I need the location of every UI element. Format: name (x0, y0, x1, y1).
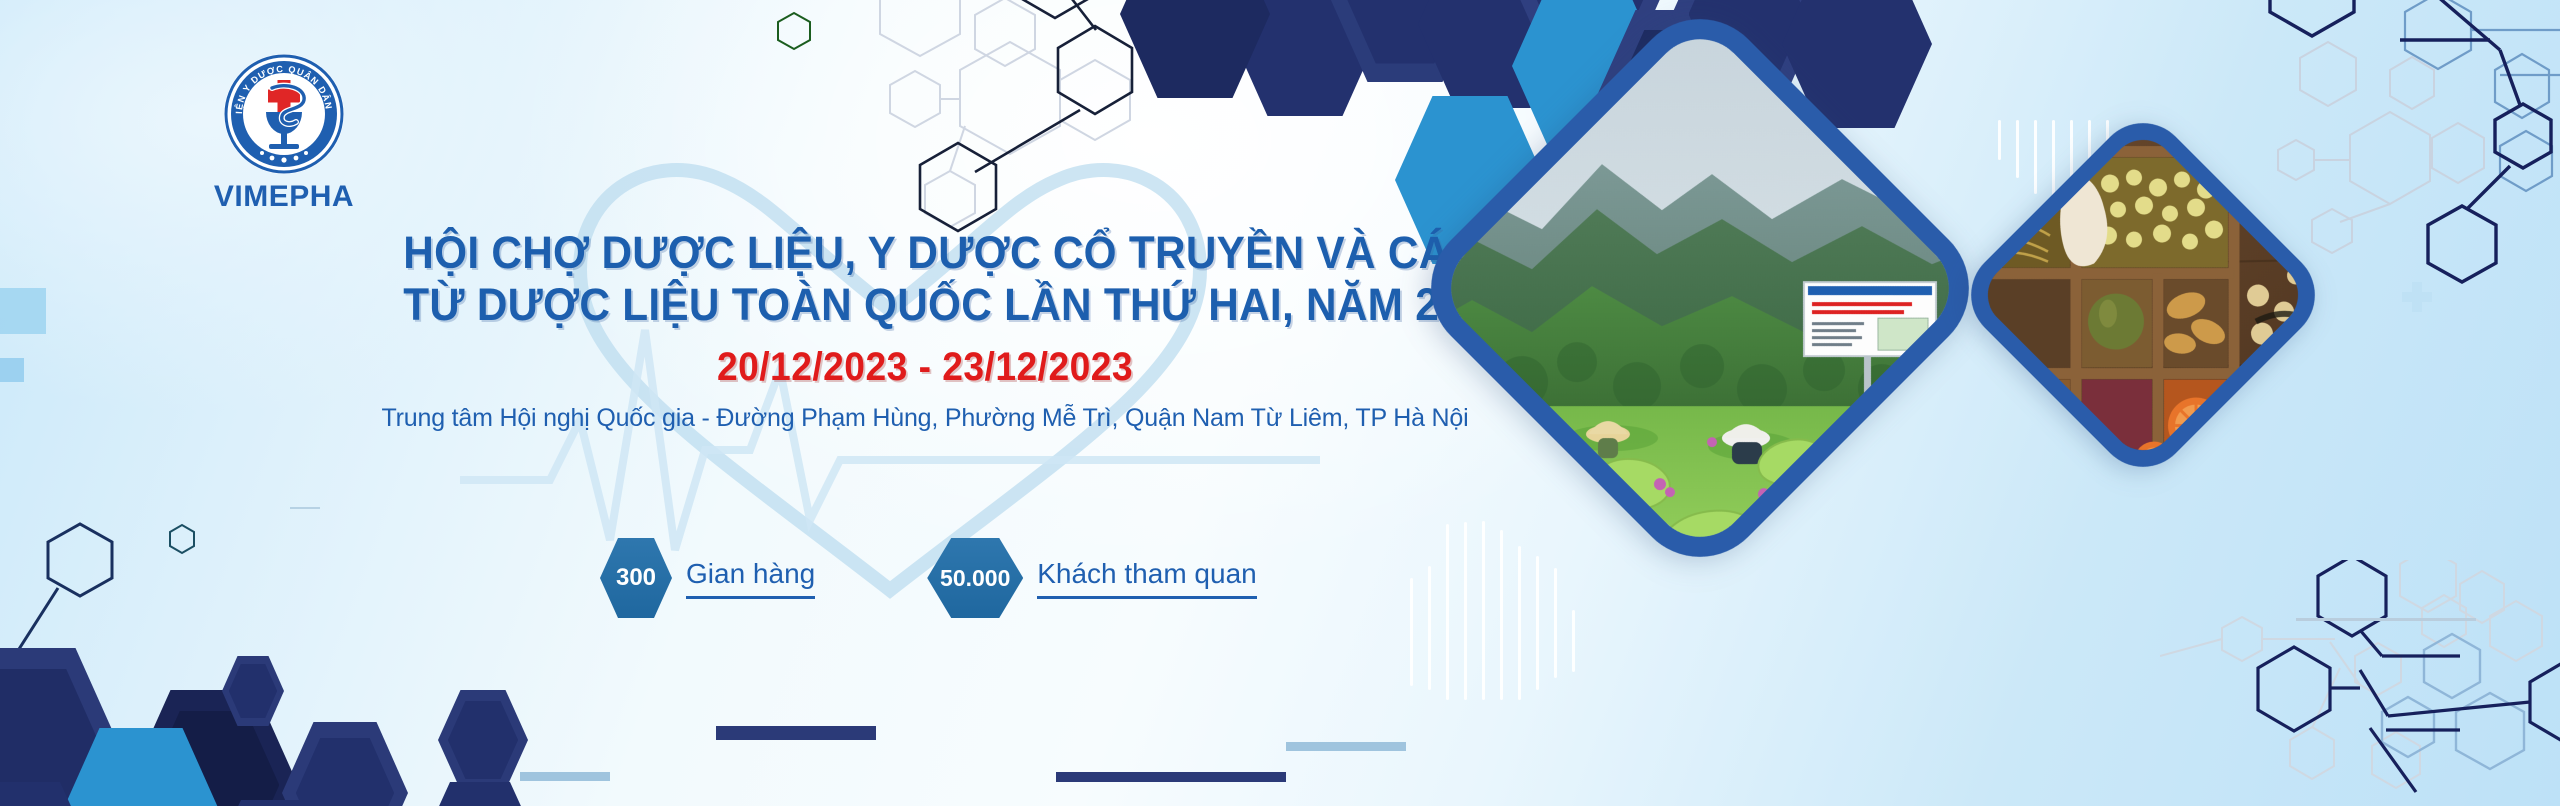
decor-cross-icon (2402, 292, 2432, 302)
institute-emblem-icon: VIỆN Y DƯỢC QUÂN DÂN Y VIỆT NAM (222, 52, 346, 176)
stat-label: Khách tham quan (1037, 557, 1257, 598)
stat-booths: 300 Gian hàng (600, 538, 815, 618)
event-title-line-1: HỘI CHỢ DƯỢC LIỆU, Y DƯỢC CỔ TRUYỀN VÀ C… (403, 228, 1446, 278)
stat-visitors: 50.000 Khách tham quan (927, 538, 1257, 618)
decor-bar (716, 726, 876, 740)
hairline-bundle-center (1398, 500, 1638, 700)
hex-network-top (760, 0, 1320, 260)
hex-network-bottom-right (2160, 560, 2560, 806)
event-venue: Trung tâm Hội nghị Quốc gia - Đường Phạm… (370, 404, 1480, 433)
hexagon-chip (420, 782, 540, 806)
decor-bar (1286, 742, 1406, 751)
hexagon-chip (1120, 0, 1270, 98)
dried-herbs-tray-photo (1952, 104, 2334, 486)
hex-network-left (0, 430, 320, 730)
decor-bar (2296, 618, 2476, 621)
stat-badge: 300 (600, 538, 672, 618)
hexagon-chip (206, 800, 346, 806)
decor-cross-icon (2412, 282, 2422, 312)
hexagon-chip (1418, 0, 1568, 108)
logo-wordmark: VIMEPHA (196, 180, 372, 214)
herb-farm-photo (1403, 0, 1997, 585)
hexagon-chip-accent (58, 728, 224, 806)
hexagon-chip-outline (128, 690, 298, 806)
hexagon-chip-outline (438, 690, 528, 790)
event-dates: 20/12/2023 - 23/12/2023 (409, 345, 1441, 390)
stat-label: Gian hàng (686, 557, 815, 598)
headline-block: HỘI CHỢ DƯỢC LIỆU, Y DƯỢC CỔ TRUYỀN VÀ C… (370, 228, 1480, 433)
vimepha-logo: VIỆN Y DƯỢC QUÂN DÂN Y VIỆT NAM (196, 52, 372, 214)
hexagon-chip-outline (0, 648, 118, 806)
hexagon-chip (1230, 0, 1380, 116)
decor-square (0, 288, 46, 334)
stat-badge: 50.000 (927, 538, 1023, 618)
decor-square (0, 358, 24, 382)
hexagon-chip-outline (1330, 0, 1480, 82)
herb-farm-illustration (1431, 19, 1968, 556)
event-title-line-2: TỪ DƯỢC LIỆU TOÀN QUỐC LẦN THỨ HAI, NĂM … (403, 278, 1446, 331)
hexagon-chip (0, 782, 90, 806)
hexagon-chip-outline (282, 722, 408, 806)
hexagon-chip-outline (222, 656, 284, 726)
decor-bar (1056, 772, 1286, 782)
dried-herbs-illustration (1975, 127, 2312, 464)
decor-bar (520, 772, 610, 781)
stats-row: 300 Gian hàng 50.000 Khách tham quan (600, 538, 1257, 618)
event-banner: VIỆN Y DƯỢC QUÂN DÂN Y VIỆT NAM (0, 0, 2560, 806)
